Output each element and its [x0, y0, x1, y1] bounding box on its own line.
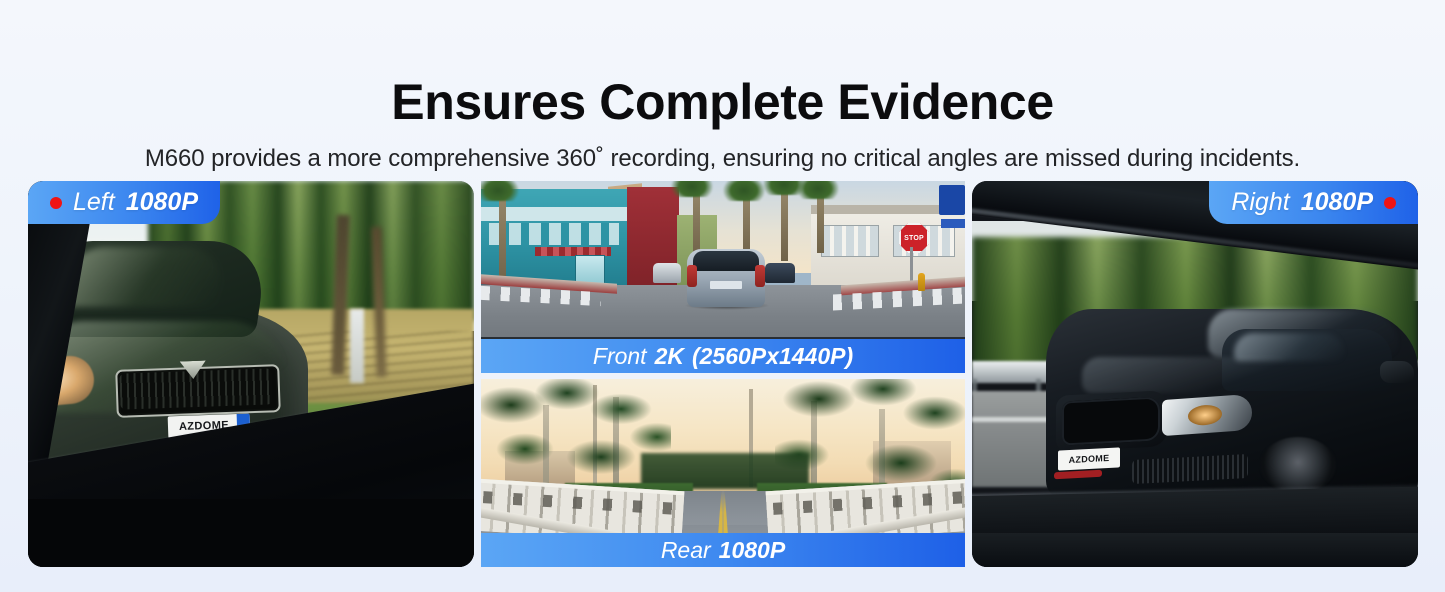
- lead-car-rear-window: [693, 251, 759, 271]
- page-title: Ensures Complete Evidence: [0, 0, 1445, 132]
- blue-street-sign: [941, 219, 965, 228]
- left-camera-panel[interactable]: AZDOME Left 1080P: [28, 181, 474, 567]
- palm-frond: [481, 181, 519, 201]
- header: Ensures Complete Evidence M660 provides …: [0, 0, 1445, 174]
- right-camera-panel[interactable]: AZDOME Right 1080P: [972, 181, 1418, 567]
- front-wheel: [1260, 437, 1336, 493]
- rec-dot-icon: [50, 197, 62, 209]
- rear-camera-panel[interactable]: Rear 1080P: [481, 379, 965, 567]
- left-camera-badge: Left 1080P: [28, 181, 220, 224]
- headlight: [1162, 394, 1252, 436]
- building-windows: [489, 223, 619, 245]
- palm-frond: [797, 181, 839, 199]
- hood-reflection: [1082, 357, 1302, 393]
- left-camera-name: Left: [73, 188, 115, 217]
- product-feature-page: Ensures Complete Evidence M660 provides …: [0, 0, 1445, 592]
- building-white-windows: [821, 225, 879, 257]
- palm-frond: [723, 181, 765, 201]
- rear-camera-resolution: 1080P: [719, 537, 786, 564]
- front-camera-name: Front: [593, 343, 647, 370]
- car-interior-shadow: [28, 499, 474, 567]
- rear-camera-name: Rear: [661, 537, 711, 564]
- stop-sign-text: STOP: [904, 235, 924, 242]
- front-camera-detail: (2560Px1440P): [692, 343, 853, 370]
- camera-view-gallery: AZDOME Left 1080P: [28, 181, 1418, 567]
- lead-car-license-plate: [710, 281, 742, 289]
- rear-camera-label: Rear 1080P: [481, 533, 965, 567]
- right-camera-name: Right: [1231, 188, 1289, 217]
- rec-dot-icon: [1384, 197, 1396, 209]
- parked-car-left: [653, 263, 681, 283]
- blue-street-sign: [939, 185, 965, 215]
- palm-frond: [671, 181, 713, 197]
- sedan-grille: [1062, 396, 1160, 445]
- roadside-post: [350, 309, 364, 383]
- headlight-lens: [1188, 404, 1222, 426]
- lead-car-taillight: [687, 265, 697, 287]
- plate-text: AZDOME: [1069, 453, 1110, 465]
- left-camera-resolution: 1080P: [126, 188, 198, 217]
- car-interior-shadow: [972, 533, 1418, 567]
- page-subtitle: M660 provides a more comprehensive 360˚ …: [0, 132, 1445, 174]
- front-camera-label: Front 2K (2560Px1440P): [481, 339, 965, 373]
- front-camera-resolution: 2K: [655, 343, 684, 370]
- side-mirror: [1380, 361, 1414, 383]
- stop-sign-icon: STOP: [899, 223, 929, 253]
- fire-hydrant: [918, 273, 925, 291]
- parked-car-right: [765, 263, 795, 283]
- right-camera-image: AZDOME: [972, 181, 1418, 567]
- left-camera-image: AZDOME: [28, 181, 474, 567]
- license-plate: AZDOME: [1058, 447, 1120, 470]
- right-camera-badge: Right 1080P: [1209, 181, 1418, 224]
- right-camera-resolution: 1080P: [1301, 188, 1373, 217]
- front-camera-panel[interactable]: STOP: [481, 181, 965, 373]
- lead-car-taillight: [755, 265, 765, 287]
- center-camera-column: STOP: [481, 181, 965, 567]
